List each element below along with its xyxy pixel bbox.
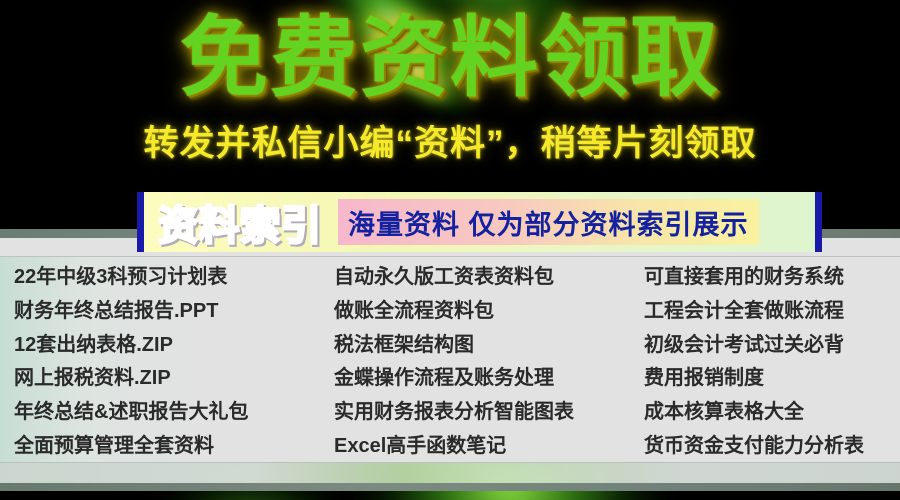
panel-bottom-strip: [0, 462, 900, 483]
index-column-1: 22年中级3科预习计划表 财务年终总结报告.PPT 12套出纳表格.ZIP 网上…: [0, 267, 320, 456]
list-item[interactable]: 12套出纳表格.ZIP: [14, 335, 320, 355]
list-item[interactable]: 货币资金支付能力分析表: [644, 436, 900, 456]
panel-bottom-bar: [0, 483, 900, 491]
page-subtitle: 转发并私信小编“资料”，稍等片刻领取: [0, 126, 900, 161]
page-title: 免费资料领取: [0, 14, 900, 102]
list-item[interactable]: 金蝶操作流程及账务处理: [334, 368, 630, 388]
list-item[interactable]: 实用财务报表分析智能图表: [334, 402, 630, 422]
list-item[interactable]: 成本核算表格大全: [644, 402, 900, 422]
list-item[interactable]: 全面预算管理全套资料: [14, 436, 320, 456]
list-item[interactable]: 财务年终总结报告.PPT: [14, 301, 320, 321]
list-item[interactable]: 年终总结&述职报告大礼包: [14, 402, 320, 422]
index-column-3: 可直接套用的财务系统 工程会计全套做账流程 初级会计考试过关必背 费用报销制度 …: [630, 267, 900, 456]
list-item[interactable]: 自动永久版工资表资料包: [334, 267, 630, 287]
list-item[interactable]: 可直接套用的财务系统: [644, 267, 900, 287]
list-item[interactable]: 工程会计全套做账流程: [644, 301, 900, 321]
index-banner: 资料索引 海量资料 仅为部分资料索引展示: [137, 192, 822, 252]
list-item[interactable]: 22年中级3科预习计划表: [14, 267, 320, 287]
index-list-panel: 22年中级3科预习计划表 财务年终总结报告.PPT 12套出纳表格.ZIP 网上…: [0, 257, 900, 462]
index-banner-title: 资料索引: [144, 193, 334, 251]
list-item[interactable]: 税法框架结构图: [334, 335, 630, 355]
promo-poster: 免费资料领取 转发并私信小编“资料”，稍等片刻领取 资料索引 海量资料 仅为部分…: [0, 0, 900, 500]
list-item[interactable]: 初级会计考试过关必背: [644, 335, 900, 355]
index-column-2: 自动永久版工资表资料包 做账全流程资料包 税法框架结构图 金蝶操作流程及账务处理…: [320, 267, 630, 456]
list-item[interactable]: 网上报税资料.ZIP: [14, 368, 320, 388]
list-item[interactable]: Excel高手函数笔记: [334, 436, 630, 456]
index-banner-subtitle: 海量资料 仅为部分资料索引展示: [338, 199, 759, 245]
list-item[interactable]: 费用报销制度: [644, 368, 900, 388]
list-item[interactable]: 做账全流程资料包: [334, 301, 630, 321]
